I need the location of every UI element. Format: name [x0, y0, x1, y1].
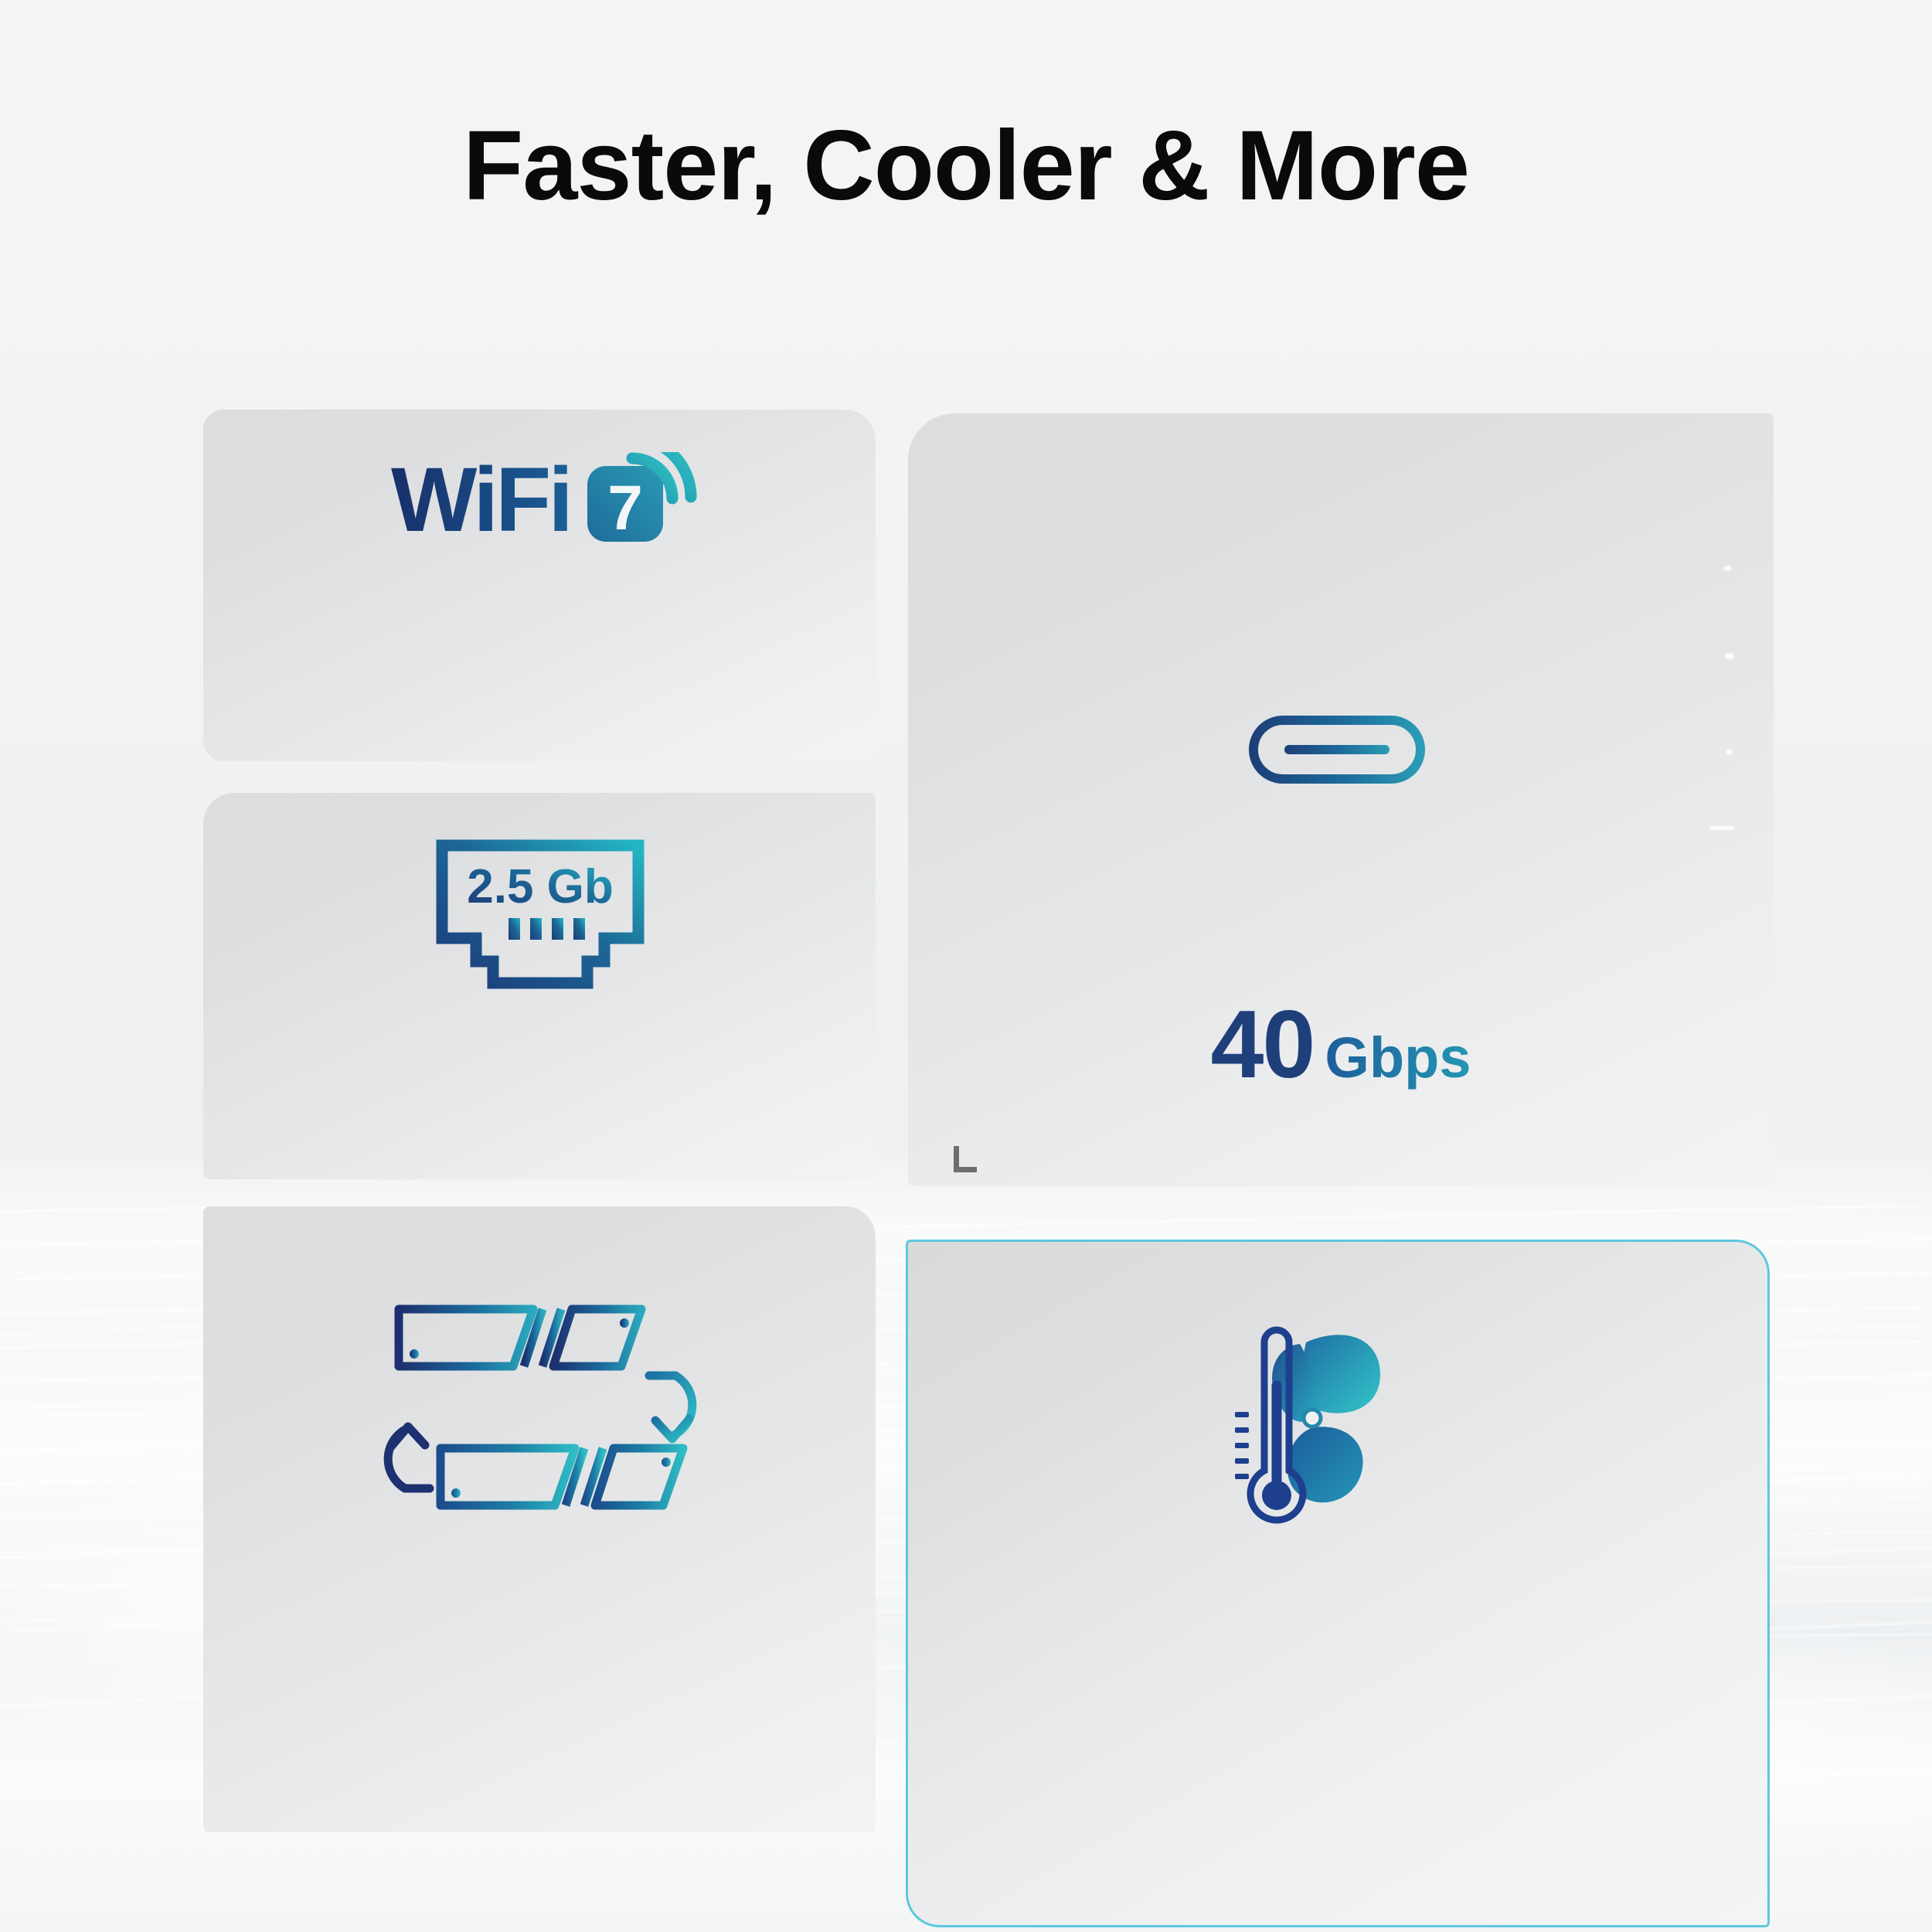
feature-card-usb-typec[interactable]: 40Gbps USB 40Gbps Type-C® For the latest…	[908, 413, 1774, 1186]
usb-speed-unit: Gbps	[1325, 1026, 1471, 1090]
feature-card-wifi7[interactable]: WiFi 7 + For stable WiFi connection and …	[203, 410, 876, 761]
thermometer-fan-icon	[1198, 1319, 1406, 1582]
svg-text:7: 7	[607, 473, 643, 543]
usb-speed-value: 40	[1210, 992, 1314, 1098]
feature-card-m2-heatsink[interactable]: + Flexible M.2 Heatsink For better therm…	[203, 1206, 876, 1832]
feature-card-fan-xpert[interactable]: + ASUS Fan Xpert 4 For ultimate cooling …	[906, 1240, 1770, 1927]
svg-text:WiFi: WiFi	[391, 452, 570, 551]
usb-type-c-port-icon	[1248, 715, 1426, 784]
decor-dot	[1709, 826, 1734, 830]
decor-dot	[1726, 749, 1733, 755]
ethernet-speed-label: 2.5 Gb	[467, 860, 614, 913]
page-title: Faster, Cooler & More	[0, 114, 1932, 218]
wifi-7-logo-icon: WiFi 7	[391, 452, 716, 553]
m2-heatsink-swap-icon	[369, 1295, 709, 1519]
rj45-ethernet-port-icon: 2.5 Gb	[436, 839, 645, 1013]
decor-dot	[1723, 566, 1732, 571]
decor-dot	[1725, 653, 1734, 659]
feature-card-ethernet[interactable]: 2.5 Gb 2.5Gb Ethernet	[203, 793, 876, 1179]
corner-bracket-mark	[954, 1146, 977, 1172]
usb-speed-stat: 40Gbps	[908, 997, 1774, 1093]
